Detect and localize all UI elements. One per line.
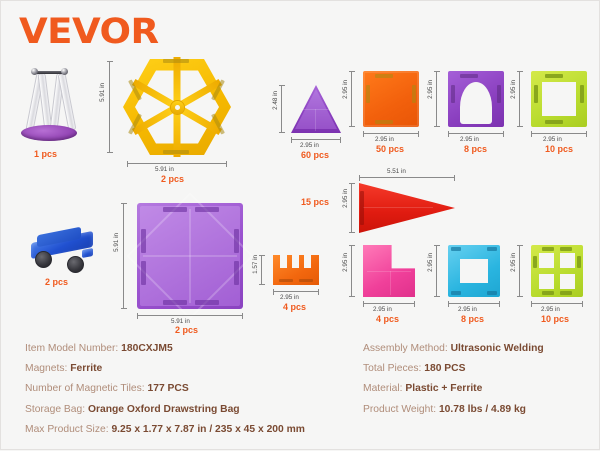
purple-square-cross-v bbox=[189, 209, 191, 303]
magnet-strip bbox=[580, 85, 584, 103]
magnet-strip bbox=[560, 291, 572, 295]
green-pane-cutout bbox=[560, 274, 575, 289]
pcs-label: 2 pcs bbox=[175, 325, 198, 335]
comb-notch bbox=[304, 255, 311, 268]
comb-height-label: 1.57 in bbox=[252, 255, 259, 274]
magnet-strip bbox=[163, 59, 189, 63]
green-frame-width-label: 2.95 in bbox=[543, 136, 562, 143]
comb-width-label: 2.95 in bbox=[280, 294, 299, 301]
magnet-strip bbox=[542, 291, 554, 295]
green-pane-height-label: 2.95 in bbox=[510, 253, 517, 272]
spec-value: Ferrite bbox=[70, 363, 102, 374]
pcs-label: 15 pcs bbox=[301, 197, 329, 207]
orange-square-width-rule bbox=[363, 133, 419, 134]
pcs-label: 60 pcs bbox=[301, 150, 329, 160]
pink-l-facet bbox=[390, 271, 391, 295]
purple-square-height-label: 5.91 in bbox=[113, 233, 120, 252]
axle-knob-left bbox=[31, 68, 38, 75]
triangle-width-label: 2.95 in bbox=[300, 142, 319, 149]
magnet-strip bbox=[163, 150, 189, 154]
magnet-strip bbox=[487, 291, 497, 295]
arch-cutout bbox=[460, 82, 492, 124]
spec-label: Assembly Method: bbox=[363, 343, 448, 354]
spec-value: 177 PCS bbox=[147, 383, 188, 394]
purple-square-width-rule bbox=[137, 315, 243, 316]
magnet-strip bbox=[577, 256, 581, 268]
ferris-stand-art bbox=[17, 59, 81, 145]
orange-square-height-rule bbox=[351, 71, 352, 127]
hexagon-art bbox=[123, 57, 231, 157]
spec-value: 180 PCS bbox=[424, 363, 465, 374]
arch-width-label: 2.95 in bbox=[460, 136, 479, 143]
spec-label: Number of Magnetic Tiles: bbox=[25, 383, 145, 394]
spec-row-max-product-size: Max Product Size: 9.25 x 1.77 x 7.87 in … bbox=[25, 424, 355, 435]
hexagon-spoke-4 bbox=[174, 57, 181, 107]
magnet-strip bbox=[375, 74, 393, 78]
piece-blue-car-base: 2 pcs bbox=[21, 219, 111, 299]
hexagon-center-hole bbox=[175, 105, 180, 110]
pcs-label: 50 pcs bbox=[376, 144, 404, 154]
spec-label: Storage Bag: bbox=[25, 404, 85, 415]
pcs-label: 4 pcs bbox=[283, 302, 306, 312]
magnet-strip bbox=[545, 120, 563, 124]
piece-green-square-frame: 2.95 in 2.95 in 10 pcs bbox=[511, 63, 595, 161]
vevor-logo: VEVOR bbox=[19, 15, 159, 50]
specs-right-column: Assembly Method: Ultrasonic Welding Tota… bbox=[363, 343, 600, 424]
blue-window-cutout bbox=[460, 259, 488, 283]
piece-large-purple-square: 5.91 in 5.91 in 2 pcs bbox=[113, 191, 263, 331]
car-wheel-rear bbox=[67, 256, 84, 273]
pink-l-art bbox=[363, 245, 415, 297]
orange-square-width-label: 2.95 in bbox=[375, 136, 394, 143]
pcs-label: 2 pcs bbox=[45, 277, 68, 287]
spec-row-material: Material: Plastic + Ferrite bbox=[363, 383, 600, 394]
pink-l-width-rule bbox=[363, 303, 415, 304]
orange-square-height-label: 2.95 in bbox=[342, 80, 349, 99]
arch-height-rule bbox=[436, 71, 437, 127]
piece-orange-square: 2.95 in 2.95 in 50 pcs bbox=[343, 63, 427, 161]
magnet-strip bbox=[451, 247, 461, 251]
green-frame-width-rule bbox=[531, 133, 587, 134]
magnet-strip bbox=[451, 291, 461, 295]
comb-width-rule bbox=[273, 291, 319, 292]
magnet-strip bbox=[412, 85, 416, 103]
magnet-strip bbox=[360, 191, 364, 225]
magnet-strip bbox=[141, 261, 146, 285]
spec-label: Product Weight: bbox=[363, 404, 436, 415]
pcs-label: 2 pcs bbox=[161, 174, 184, 184]
pcs-label: 8 pcs bbox=[461, 314, 484, 324]
pcs-label: 4 pcs bbox=[376, 314, 399, 324]
hexagon-height-rule bbox=[109, 61, 110, 153]
spec-row-item-model-number: Item Model Number: 180CXJM5 bbox=[25, 343, 355, 354]
red-triangle-height-rule bbox=[351, 183, 352, 233]
triangle-height-rule bbox=[281, 85, 282, 133]
spec-value: Ultrasonic Welding bbox=[451, 343, 544, 354]
magnet-strip bbox=[497, 85, 501, 103]
pcs-label: 10 pcs bbox=[541, 314, 569, 324]
magnet-strip bbox=[542, 247, 554, 251]
piece-pink-l-shape: 2.95 in 2.95 in 4 pcs bbox=[343, 241, 427, 325]
magnet-strip bbox=[375, 120, 393, 124]
magnet-strip bbox=[545, 74, 563, 78]
spec-label: Max Product Size: bbox=[25, 424, 109, 435]
green-frame-cutout bbox=[542, 82, 576, 116]
spec-value: Plastic + Ferrite bbox=[405, 383, 482, 394]
triangle-facet bbox=[315, 109, 316, 131]
hexagon-width-rule bbox=[127, 163, 227, 164]
spec-row-magnets: Magnets: Ferrite bbox=[25, 363, 355, 374]
piece-ferris-wheel-stand: 1 pcs bbox=[17, 59, 89, 159]
pcs-label: 1 pcs bbox=[34, 149, 57, 159]
magnet-strip bbox=[460, 74, 478, 78]
green-frame-height-label: 2.95 in bbox=[510, 80, 517, 99]
piece-purple-arch-window: 2.95 in 2.95 in 8 pcs bbox=[428, 63, 512, 161]
piece-purple-triangle: 2.48 in 2.95 in 60 pcs bbox=[273, 71, 349, 161]
stand-purple-base bbox=[21, 125, 77, 141]
green-pane-cutout bbox=[539, 274, 554, 289]
pink-l-height-rule bbox=[351, 245, 352, 297]
arch-height-label: 2.95 in bbox=[427, 80, 434, 99]
magnet-strip bbox=[560, 247, 572, 251]
piece-red-long-triangle: 15 pcs 5.51 in 2.95 in bbox=[301, 171, 491, 241]
blue-window-art bbox=[448, 245, 500, 297]
orange-square-art bbox=[363, 71, 419, 127]
spec-label: Material: bbox=[363, 383, 402, 394]
arch-width-rule bbox=[448, 133, 504, 134]
comb-notch bbox=[292, 255, 299, 268]
pcs-label: 10 pcs bbox=[545, 144, 573, 154]
arch-window-art bbox=[448, 71, 504, 127]
green-pane-cutout bbox=[539, 253, 554, 268]
magnet-strip bbox=[366, 85, 370, 103]
pcs-label: 8 pcs bbox=[464, 144, 487, 154]
red-triangle-height-label: 2.95 in bbox=[342, 189, 349, 208]
red-triangle-facet bbox=[363, 207, 433, 208]
green-pane-width-label: 2.95 in bbox=[541, 306, 560, 313]
piece-blue-window-square: 2.95 in 2.95 in 8 pcs bbox=[428, 241, 512, 325]
spec-label: Magnets: bbox=[25, 363, 67, 374]
specs-left-column: Item Model Number: 180CXJM5 Magnets: Fer… bbox=[25, 343, 355, 444]
red-triangle-art bbox=[359, 183, 455, 233]
magnet-strip bbox=[163, 207, 187, 212]
spec-row-product-weight: Product Weight: 10.78 lbs / 4.89 kg bbox=[363, 404, 600, 415]
pink-l-width-label: 2.95 in bbox=[373, 306, 392, 313]
car-wheel-front bbox=[35, 251, 52, 268]
magnet-strip bbox=[163, 300, 187, 305]
car-art bbox=[29, 225, 99, 271]
green-pane-art bbox=[531, 245, 583, 297]
spec-row-storage-bag: Storage Bag: Orange Oxford Drawstring Ba… bbox=[25, 404, 355, 415]
piece-orange-comb: 1.57 in 2.95 in 4 pcs bbox=[257, 249, 331, 325]
green-pane-height-rule bbox=[519, 245, 520, 297]
piece-yellow-hexagon: 5.91 in 5.91 in 2 pcs bbox=[97, 53, 267, 183]
magnet-strip bbox=[234, 261, 239, 285]
spec-value: 10.78 lbs / 4.89 kg bbox=[439, 404, 526, 415]
spec-row-assembly-method: Assembly Method: Ultrasonic Welding bbox=[363, 343, 600, 354]
red-triangle-width-rule bbox=[359, 177, 455, 178]
spec-label: Item Model Number: bbox=[25, 343, 118, 354]
hexagon-width-label: 5.91 in bbox=[155, 166, 174, 173]
magnet-strip bbox=[195, 207, 219, 212]
green-frame-art bbox=[531, 71, 587, 127]
green-pane-width-rule bbox=[531, 303, 583, 304]
comb-art bbox=[273, 255, 319, 285]
purple-square-art bbox=[137, 203, 243, 309]
blue-window-width-label: 2.95 in bbox=[458, 306, 477, 313]
magnet-strip bbox=[141, 229, 146, 253]
hexagon-height-label: 5.91 in bbox=[99, 83, 106, 102]
green-pane-cutout bbox=[560, 253, 575, 268]
magnet-strip bbox=[534, 85, 538, 103]
magnet-strip bbox=[533, 256, 537, 268]
spec-value: Orange Oxford Drawstring Bag bbox=[88, 404, 240, 415]
triangle-art bbox=[291, 85, 341, 133]
spec-label: Total Pieces: bbox=[363, 363, 421, 374]
pink-l-height-label: 2.95 in bbox=[342, 253, 349, 272]
car-hitch bbox=[82, 248, 93, 258]
comb-height-rule bbox=[261, 255, 262, 285]
product-spec-sheet: VEVOR 1 pcs 5.91 in bbox=[1, 1, 600, 451]
piece-green-four-pane: 2.95 in 2.95 in 10 pcs bbox=[511, 241, 595, 325]
purple-square-height-rule bbox=[123, 203, 124, 309]
spec-row-number-of-magnetic-tiles: Number of Magnetic Tiles: 177 PCS bbox=[25, 383, 355, 394]
magnet-strip bbox=[299, 279, 313, 282]
spec-value: 180CXJM5 bbox=[121, 343, 173, 354]
magnet-strip bbox=[451, 85, 455, 103]
axle-knob-right bbox=[61, 68, 68, 75]
green-frame-height-rule bbox=[519, 71, 520, 127]
spec-value: 9.25 x 1.77 x 7.87 in / 235 x 45 x 200 m… bbox=[111, 424, 305, 435]
pink-l-facet bbox=[367, 271, 411, 272]
blue-window-height-rule bbox=[436, 245, 437, 297]
triangle-height-label: 2.48 in bbox=[272, 91, 279, 110]
magnet-strip bbox=[234, 229, 239, 253]
blue-window-height-label: 2.95 in bbox=[427, 253, 434, 272]
purple-square-width-label: 5.91 in bbox=[171, 318, 190, 325]
spec-row-total-pieces: Total Pieces: 180 PCS bbox=[363, 363, 600, 374]
magnet-strip bbox=[195, 300, 219, 305]
triangle-width-rule bbox=[291, 139, 341, 140]
comb-notch bbox=[280, 255, 287, 268]
blue-window-width-rule bbox=[448, 303, 500, 304]
magnet-strip bbox=[487, 247, 497, 251]
triangle-facet bbox=[303, 109, 329, 110]
magnet-strip bbox=[279, 279, 293, 282]
red-triangle-width-label: 5.51 in bbox=[387, 168, 406, 175]
